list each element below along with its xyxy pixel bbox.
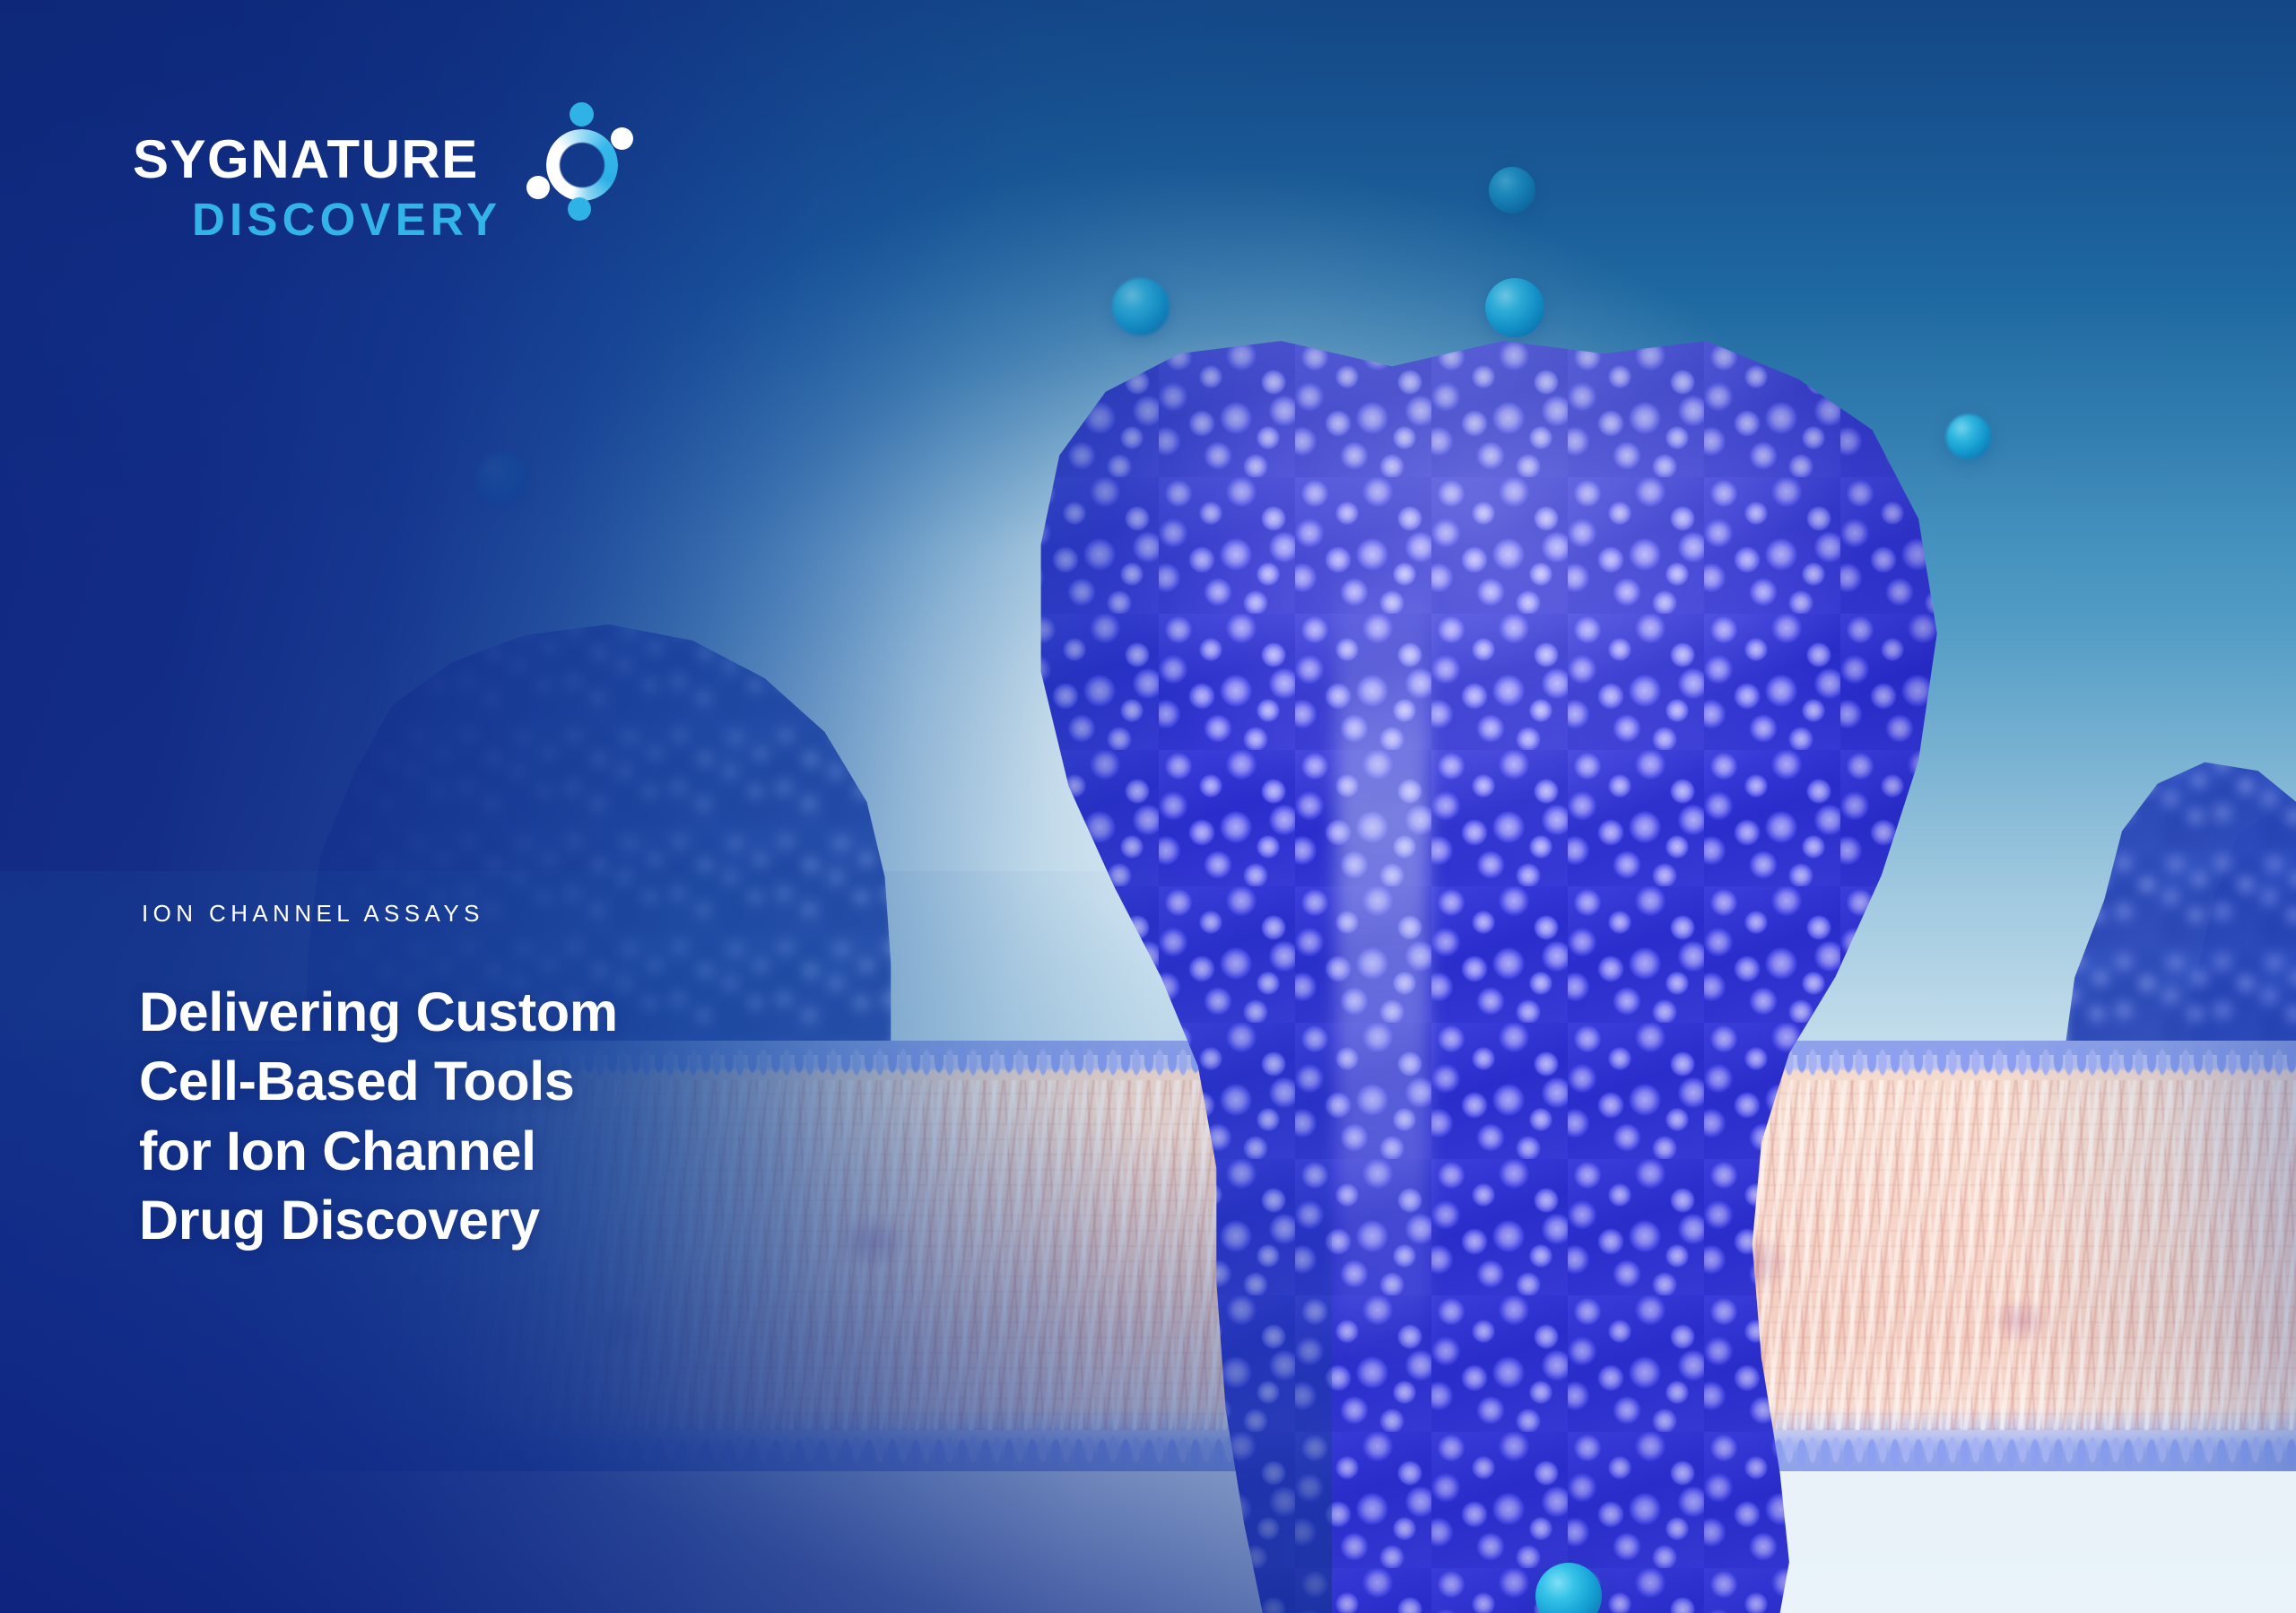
hero-eyebrow: ION CHANNEL ASSAYS — [142, 900, 484, 928]
headline-line-4: Drug Discovery — [139, 1186, 618, 1255]
sygnature-discovery-logo[interactable]: SYGNATURE DISCOVERY — [133, 133, 639, 242]
hero-headline: Delivering Custom Cell-Based Tools for I… — [139, 978, 618, 1256]
ring-icon — [546, 129, 618, 201]
logo-word-discovery: DISCOVERY — [192, 196, 501, 242]
background-top-shade — [0, 0, 2296, 548]
ring-dot-bottom-left-icon — [526, 176, 550, 199]
headline-line-2: Cell-Based Tools — [139, 1047, 618, 1116]
sygnature-ring-mark-icon — [525, 102, 639, 221]
headline-line-1: Delivering Custom — [139, 978, 618, 1047]
ring-dot-top-icon — [570, 102, 594, 126]
headline-line-3: for Ion Channel — [139, 1117, 618, 1186]
ring-dot-bottom-icon — [568, 197, 591, 221]
ring-dot-top-right-icon — [611, 127, 633, 150]
hero-banner: SYGNATURE DISCOVERY ION CHANNEL ASSAYS D… — [0, 0, 2296, 1613]
logo-word-sygnature: SYGNATURE — [133, 133, 501, 187]
logo-wordmark: SYGNATURE DISCOVERY — [133, 133, 501, 242]
